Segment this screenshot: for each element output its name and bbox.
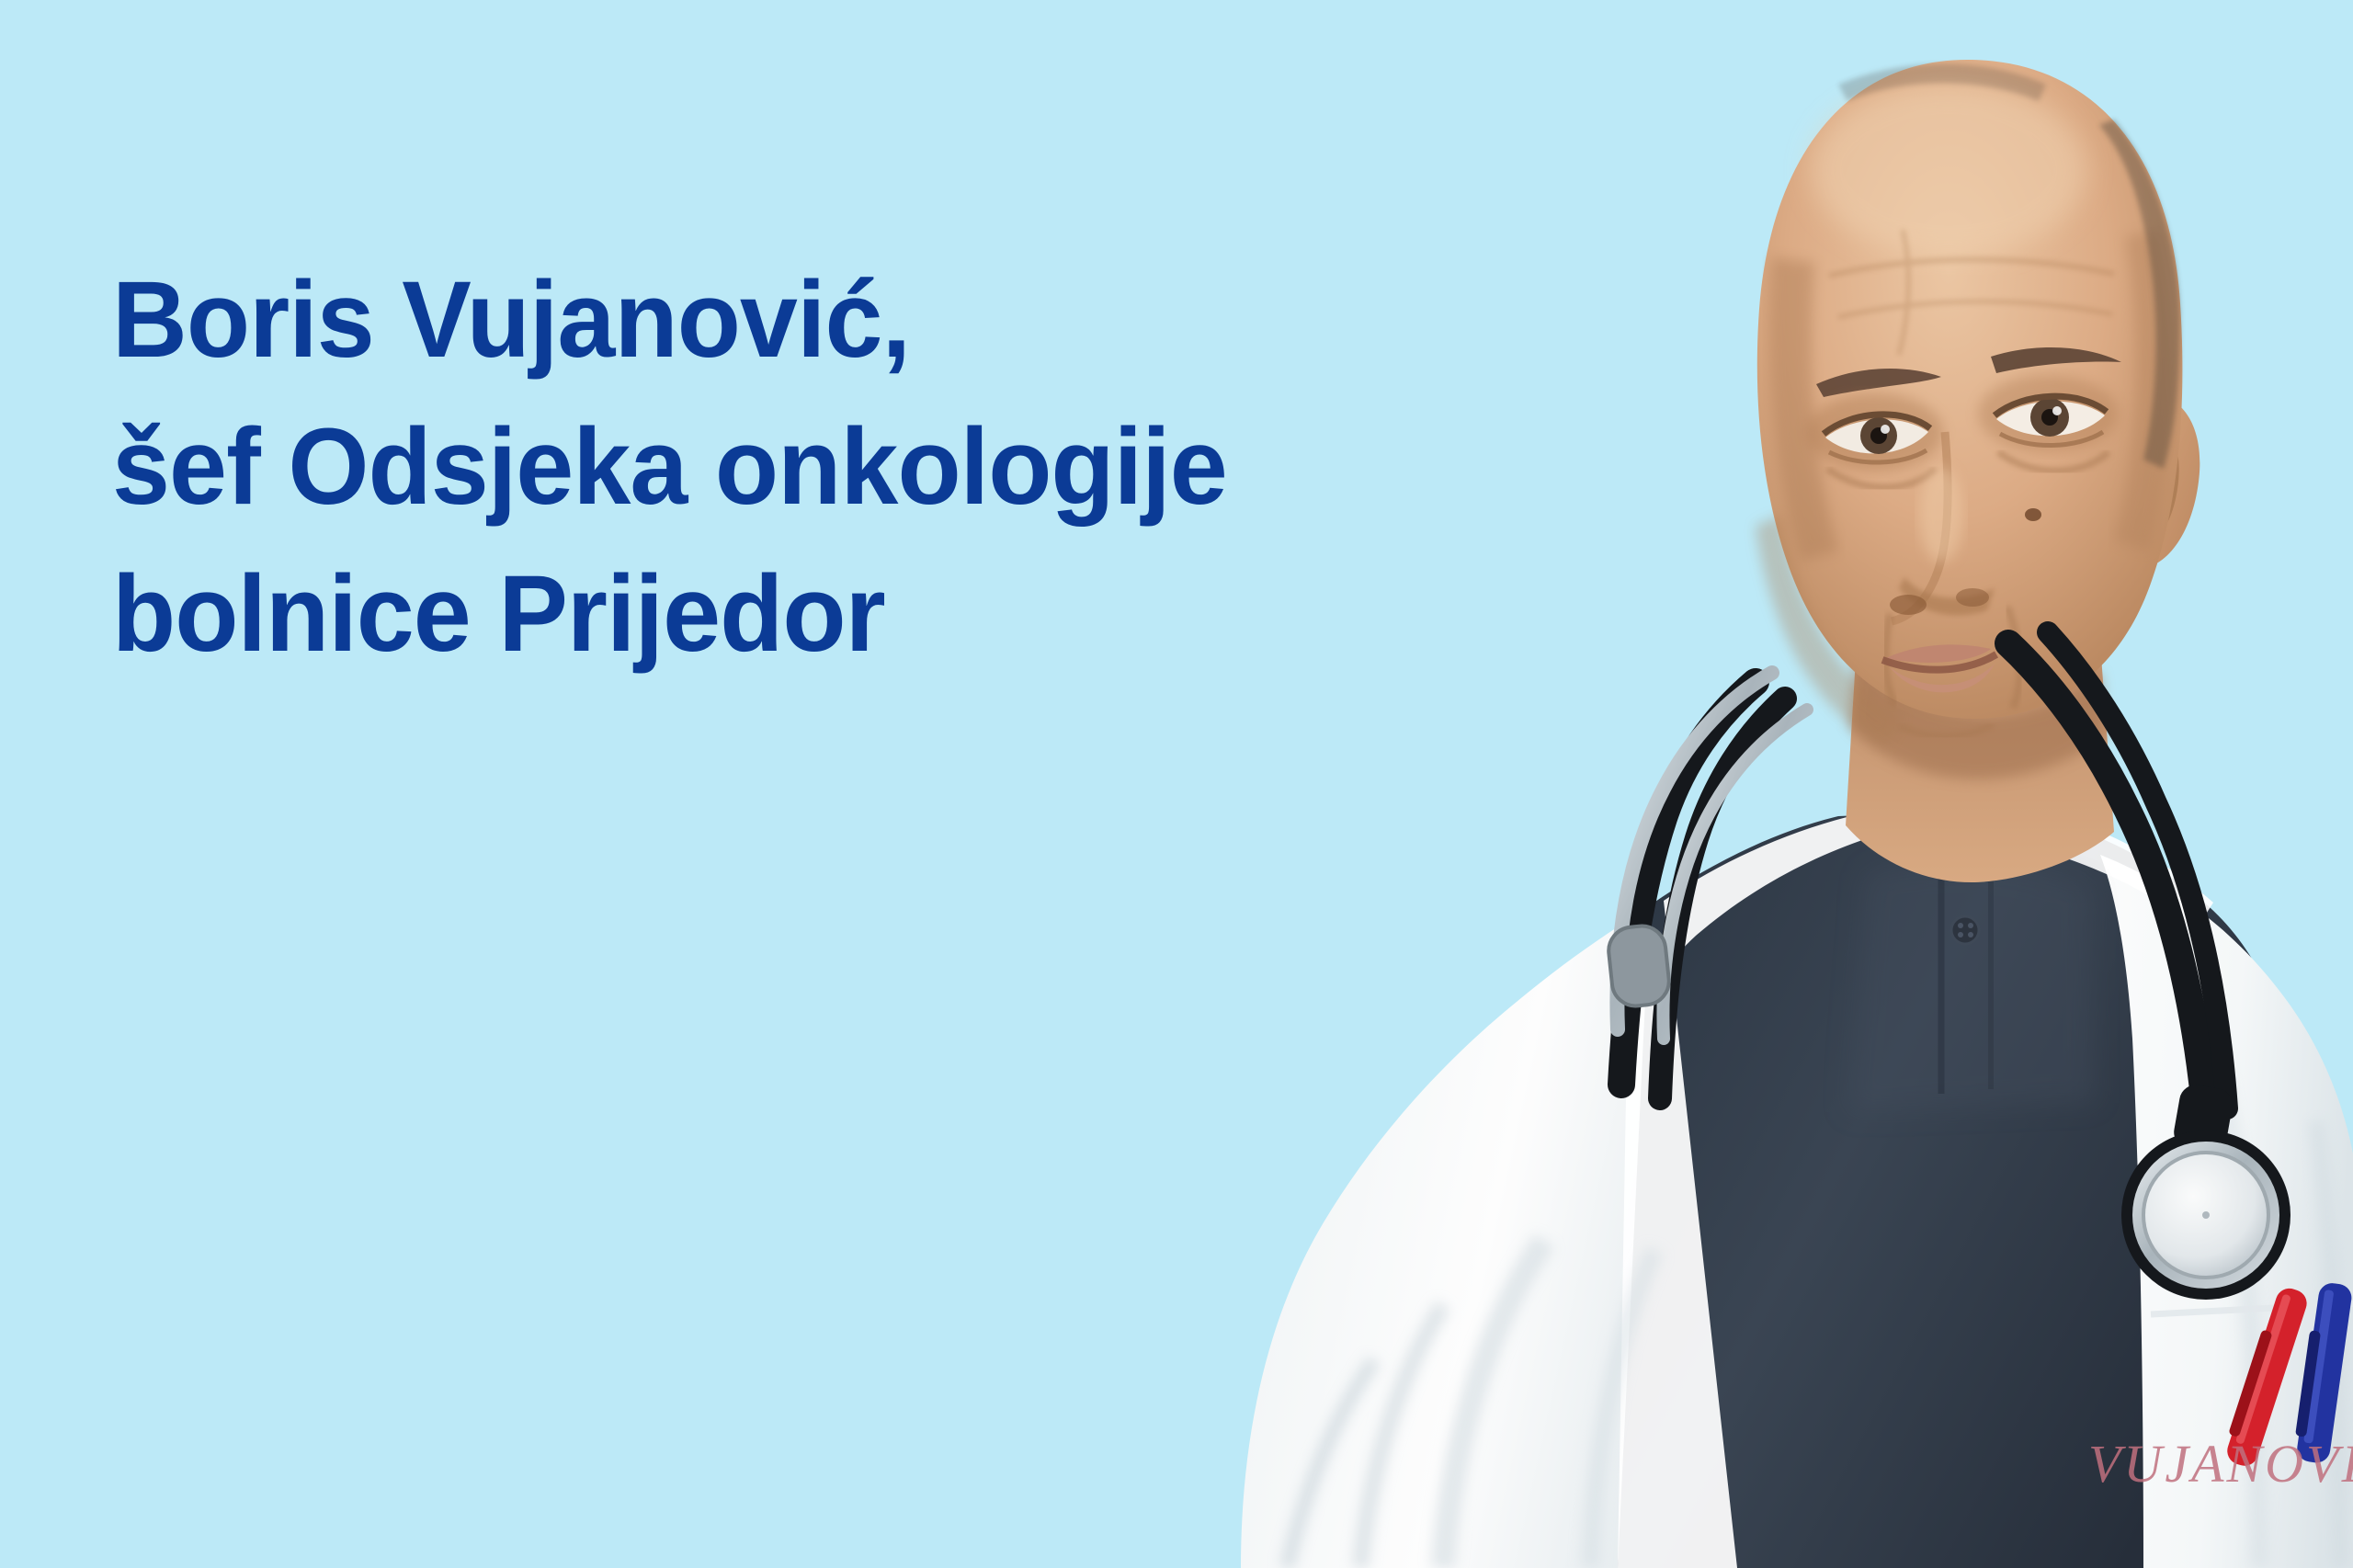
cheek-mole (2025, 508, 2041, 521)
stethoscope-slider (1607, 924, 1672, 1008)
portrait-photo: VUJANOVIĆ dr B (809, 0, 2353, 1568)
caption-block: Boris Vujanović, šef Odsjeka onkologije … (112, 246, 1491, 687)
scalp-highlight (1811, 83, 2086, 257)
coat-embroidery-text: VUJANOVIĆ dr B (2088, 1434, 2353, 1494)
nostril-right (1956, 588, 1989, 607)
nostril-left (1890, 595, 1927, 615)
caption-line-3: bolnice Prijedor (112, 540, 1436, 687)
caption-line-1: Boris Vujanović, (112, 246, 1436, 393)
portrait-illustration: VUJANOVIĆ dr B (809, 0, 2353, 1568)
shirt-highlight (1847, 862, 2096, 1112)
screenshot-canvas: VUJANOVIĆ dr B Boris Vujanović, šef Odsj… (0, 0, 2353, 1568)
caption-line-2: šef Odsjeka onkologije (112, 393, 1436, 540)
nose-highlight (1919, 467, 1963, 562)
